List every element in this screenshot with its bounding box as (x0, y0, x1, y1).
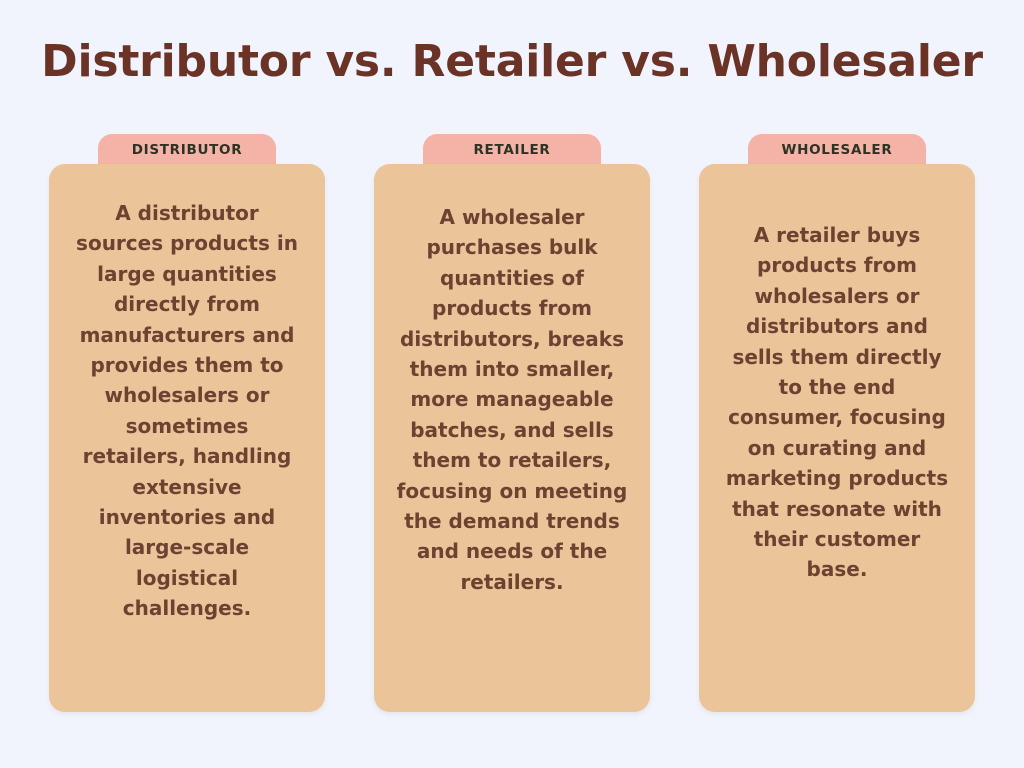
comparison-card-distributor: DISTRIBUTOR A distributor sources produc… (49, 134, 325, 712)
comparison-card-wholesaler: WHOLESALER A retailer buys products from… (699, 134, 975, 712)
comparison-cards-row: DISTRIBUTOR A distributor sources produc… (0, 134, 1024, 724)
card-tab-label: RETAILER (473, 142, 550, 158)
card-body-wholesaler: A retailer buys products from wholesaler… (699, 164, 975, 712)
infographic-root: Distributor vs. Retailer vs. Wholesaler … (0, 0, 1024, 768)
card-description: A wholesaler purchases bulk quantities o… (396, 202, 628, 597)
card-description: A distributor sources products in large … (71, 198, 303, 623)
card-tab-label: WHOLESALER (782, 142, 893, 158)
card-body-distributor: A distributor sources products in large … (49, 164, 325, 712)
comparison-card-retailer: RETAILER A wholesaler purchases bulk qua… (374, 134, 650, 712)
card-tab-label: DISTRIBUTOR (132, 142, 243, 158)
page-title: Distributor vs. Retailer vs. Wholesaler (0, 38, 1024, 86)
card-body-retailer: A wholesaler purchases bulk quantities o… (374, 164, 650, 712)
card-description: A retailer buys products from wholesaler… (721, 220, 953, 585)
